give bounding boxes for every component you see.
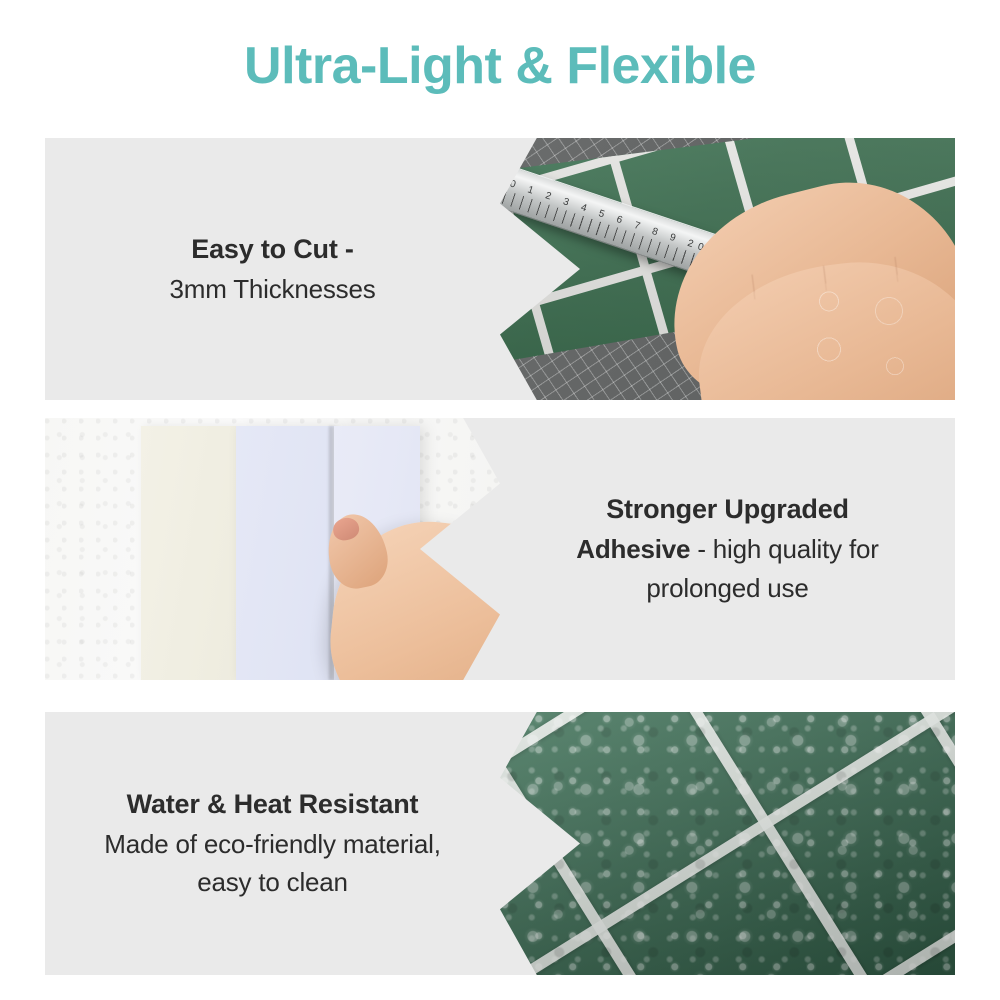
- infographic-page: Ultra-Light & Flexible 9 10 1 2 3 4 5 6 …: [0, 0, 1000, 1000]
- feature-panel-water-heat-resistant: Water & Heat Resistant Made of eco-frien…: [45, 712, 955, 975]
- page-title: Ultra-Light & Flexible: [0, 38, 1000, 95]
- panel-2-heading-inline: Adhesive: [576, 534, 690, 564]
- wall-panel-lavender-left: [236, 426, 334, 680]
- panel-1-subtext: 3mm Thicknesses: [169, 270, 375, 308]
- panel-2-text-area: Stronger Upgraded Adhesive - high qualit…: [500, 418, 955, 680]
- feature-panel-easy-to-cut: 9 10 1 2 3 4 5 6 7 8 9 20 1 2 3 4 5 6 7 …: [45, 138, 955, 400]
- panel-1-text-area: Easy to Cut - 3mm Thicknesses: [45, 138, 500, 400]
- panel-2-heading: Stronger Upgraded: [606, 490, 849, 530]
- panel-3-subtext: Made of eco-friendly material,: [104, 825, 440, 863]
- panel-3-text-area: Water & Heat Resistant Made of eco-frien…: [45, 712, 500, 975]
- panel-2-subtext-inline: - high quality for: [690, 534, 878, 564]
- wall-panel-cream: [141, 426, 237, 680]
- cutting-mat-shapes: [796, 275, 946, 395]
- panel-2-subtext: prolonged use: [646, 569, 808, 607]
- feature-panel-stronger-adhesive: Stronger Upgraded Adhesive - high qualit…: [45, 418, 955, 680]
- panel-1-heading: Easy to Cut -: [191, 230, 353, 270]
- panel-3-heading: Water & Heat Resistant: [127, 785, 419, 825]
- panel-2-heading-line-2: Adhesive - high quality for: [576, 530, 878, 569]
- panel-3-subtext-2: easy to clean: [197, 863, 348, 901]
